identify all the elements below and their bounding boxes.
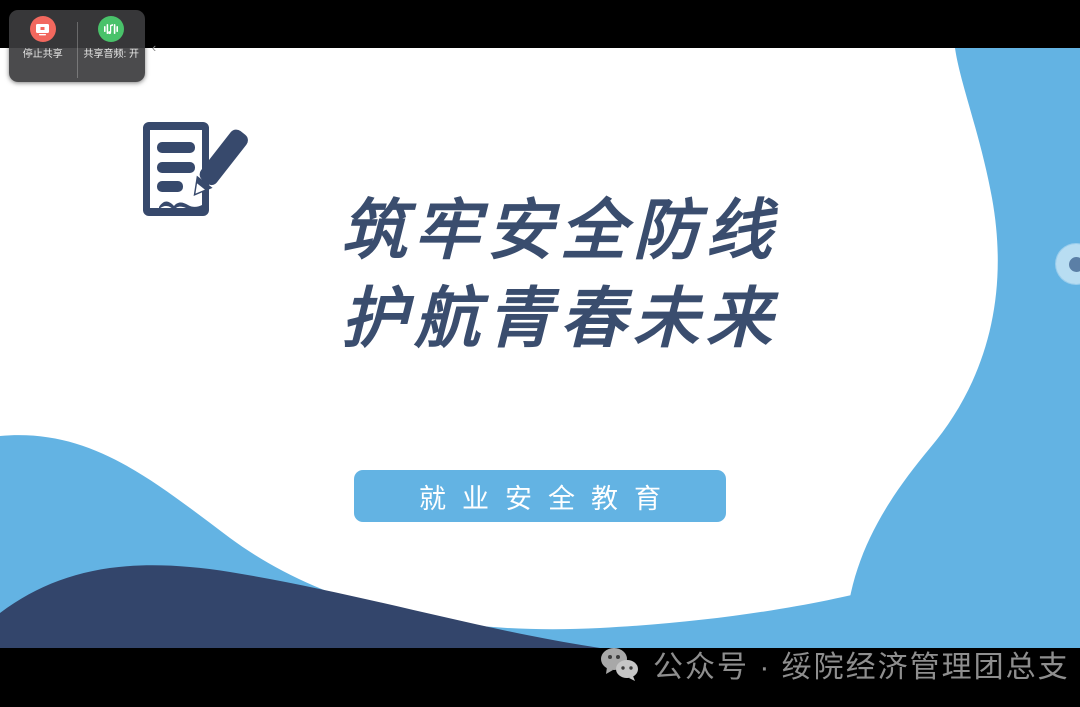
stop-share-button[interactable]: 停止共享 bbox=[9, 16, 77, 60]
toolbar-row: 停止共享 共享音频: 开 bbox=[9, 10, 145, 82]
slide-title: 筑牢安全防线 护航青春未来 bbox=[300, 188, 820, 364]
circle-handle-inner bbox=[1069, 257, 1080, 272]
subtitle-badge: 就业安全教育 bbox=[354, 470, 726, 522]
watermark: 公众号 · 绥院经济管理团总支 bbox=[600, 640, 1070, 688]
watermark-text: 公众号 · 绥院经济管理团总支 bbox=[653, 642, 1070, 686]
wechat-icon bbox=[600, 647, 640, 681]
chevron-left-icon[interactable]: ‹ bbox=[147, 34, 161, 60]
screen-root: 筑牢安全防线 护航青春未来 就业安全教育 公众号 · 绥院经济管理团总支 bbox=[0, 0, 1080, 707]
stop-share-icon bbox=[30, 16, 56, 42]
share-audio-button[interactable]: 共享音频: 开 bbox=[78, 16, 146, 60]
stop-share-label: 停止共享 bbox=[23, 45, 63, 60]
audio-wave-icon bbox=[98, 16, 124, 42]
subtitle-text: 就业安全教育 bbox=[403, 477, 677, 516]
presentation-slide: 筑牢安全防线 护航青春未来 就业安全教育 bbox=[0, 48, 1080, 648]
share-audio-label: 共享音频: 开 bbox=[83, 45, 139, 60]
document-pen-signing-icon bbox=[133, 114, 253, 234]
screen-share-toolbar[interactable]: 停止共享 共享音频: 开 ‹ bbox=[9, 10, 145, 82]
title-line-2: 护航青春未来 bbox=[300, 276, 820, 364]
title-line-1: 筑牢安全防线 bbox=[300, 188, 820, 276]
